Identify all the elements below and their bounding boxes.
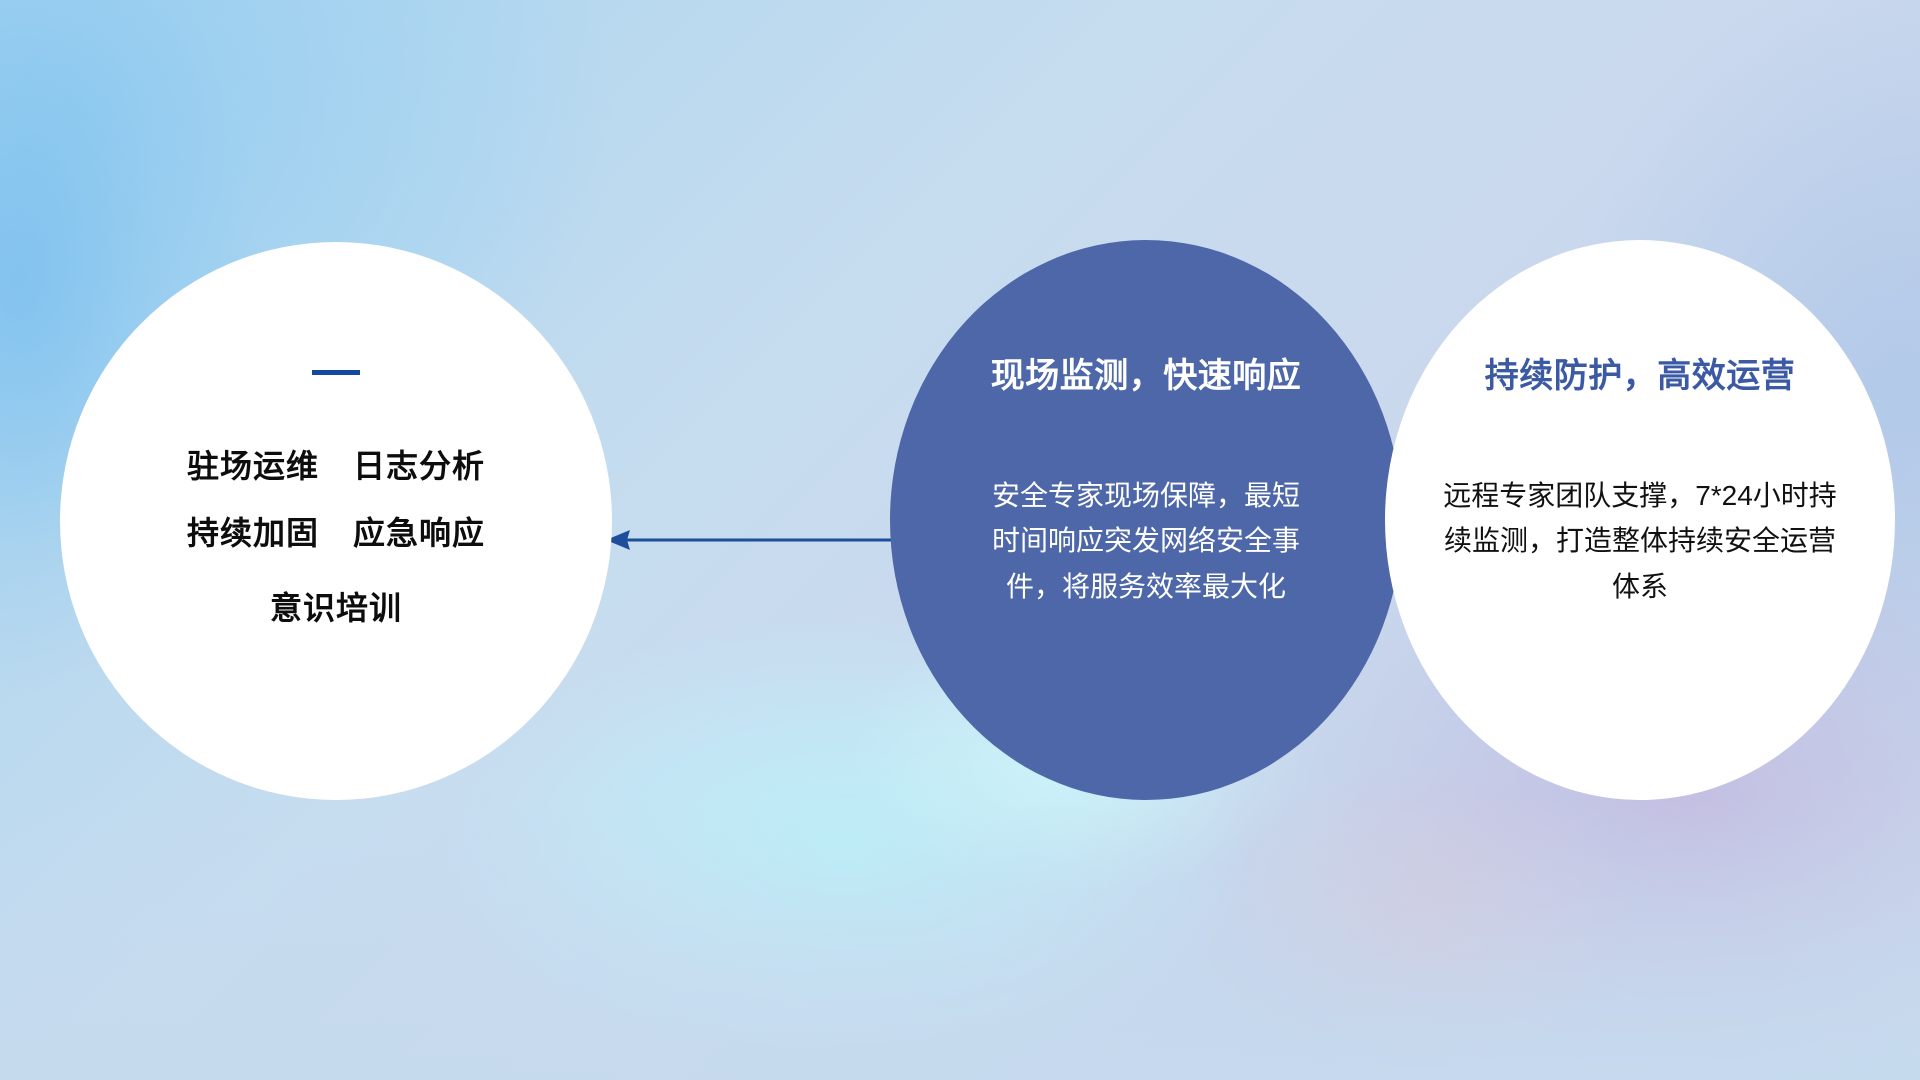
right-circle-content: 持续防护，高效运营 远程专家团队支撑，7*24小时持续监测，打造整体持续安全运营… [1385,240,1895,800]
accent-divider [312,370,360,375]
slide-canvas: 驻场运维 日志分析 持续加固 应急响应 意识培训 现场监测，快速响应 安全专家现… [0,0,1920,1080]
capability-tag: 持续加固 [187,516,319,551]
capability-tag: 驻场运维 [187,449,319,484]
middle-circle-title: 现场监测，快速响应 [991,348,1302,397]
left-circle-content: 驻场运维 日志分析 持续加固 应急响应 意识培训 [60,242,612,800]
middle-circle-content: 现场监测，快速响应 安全专家现场保障，最短时间响应突发网络安全事件，将服务效率最… [890,240,1402,800]
capability-tag: 日志分析 [353,449,485,484]
capability-row: 意识培训 [270,591,402,626]
connector-arrow-left [600,520,920,560]
middle-circle-body: 安全专家现场保障，最短时间响应突发网络安全事件，将服务效率最大化 [981,473,1311,609]
right-circle-title: 持续防护，高效运营 [1485,348,1796,397]
capability-row: 驻场运维 日志分析 [187,449,485,484]
capability-tag: 应急响应 [353,516,485,551]
capability-row: 持续加固 应急响应 [187,516,485,551]
capability-tag: 意识培训 [270,591,402,626]
right-circle-body: 远程专家团队支撑，7*24小时持续监测，打造整体持续安全运营体系 [1434,473,1846,609]
